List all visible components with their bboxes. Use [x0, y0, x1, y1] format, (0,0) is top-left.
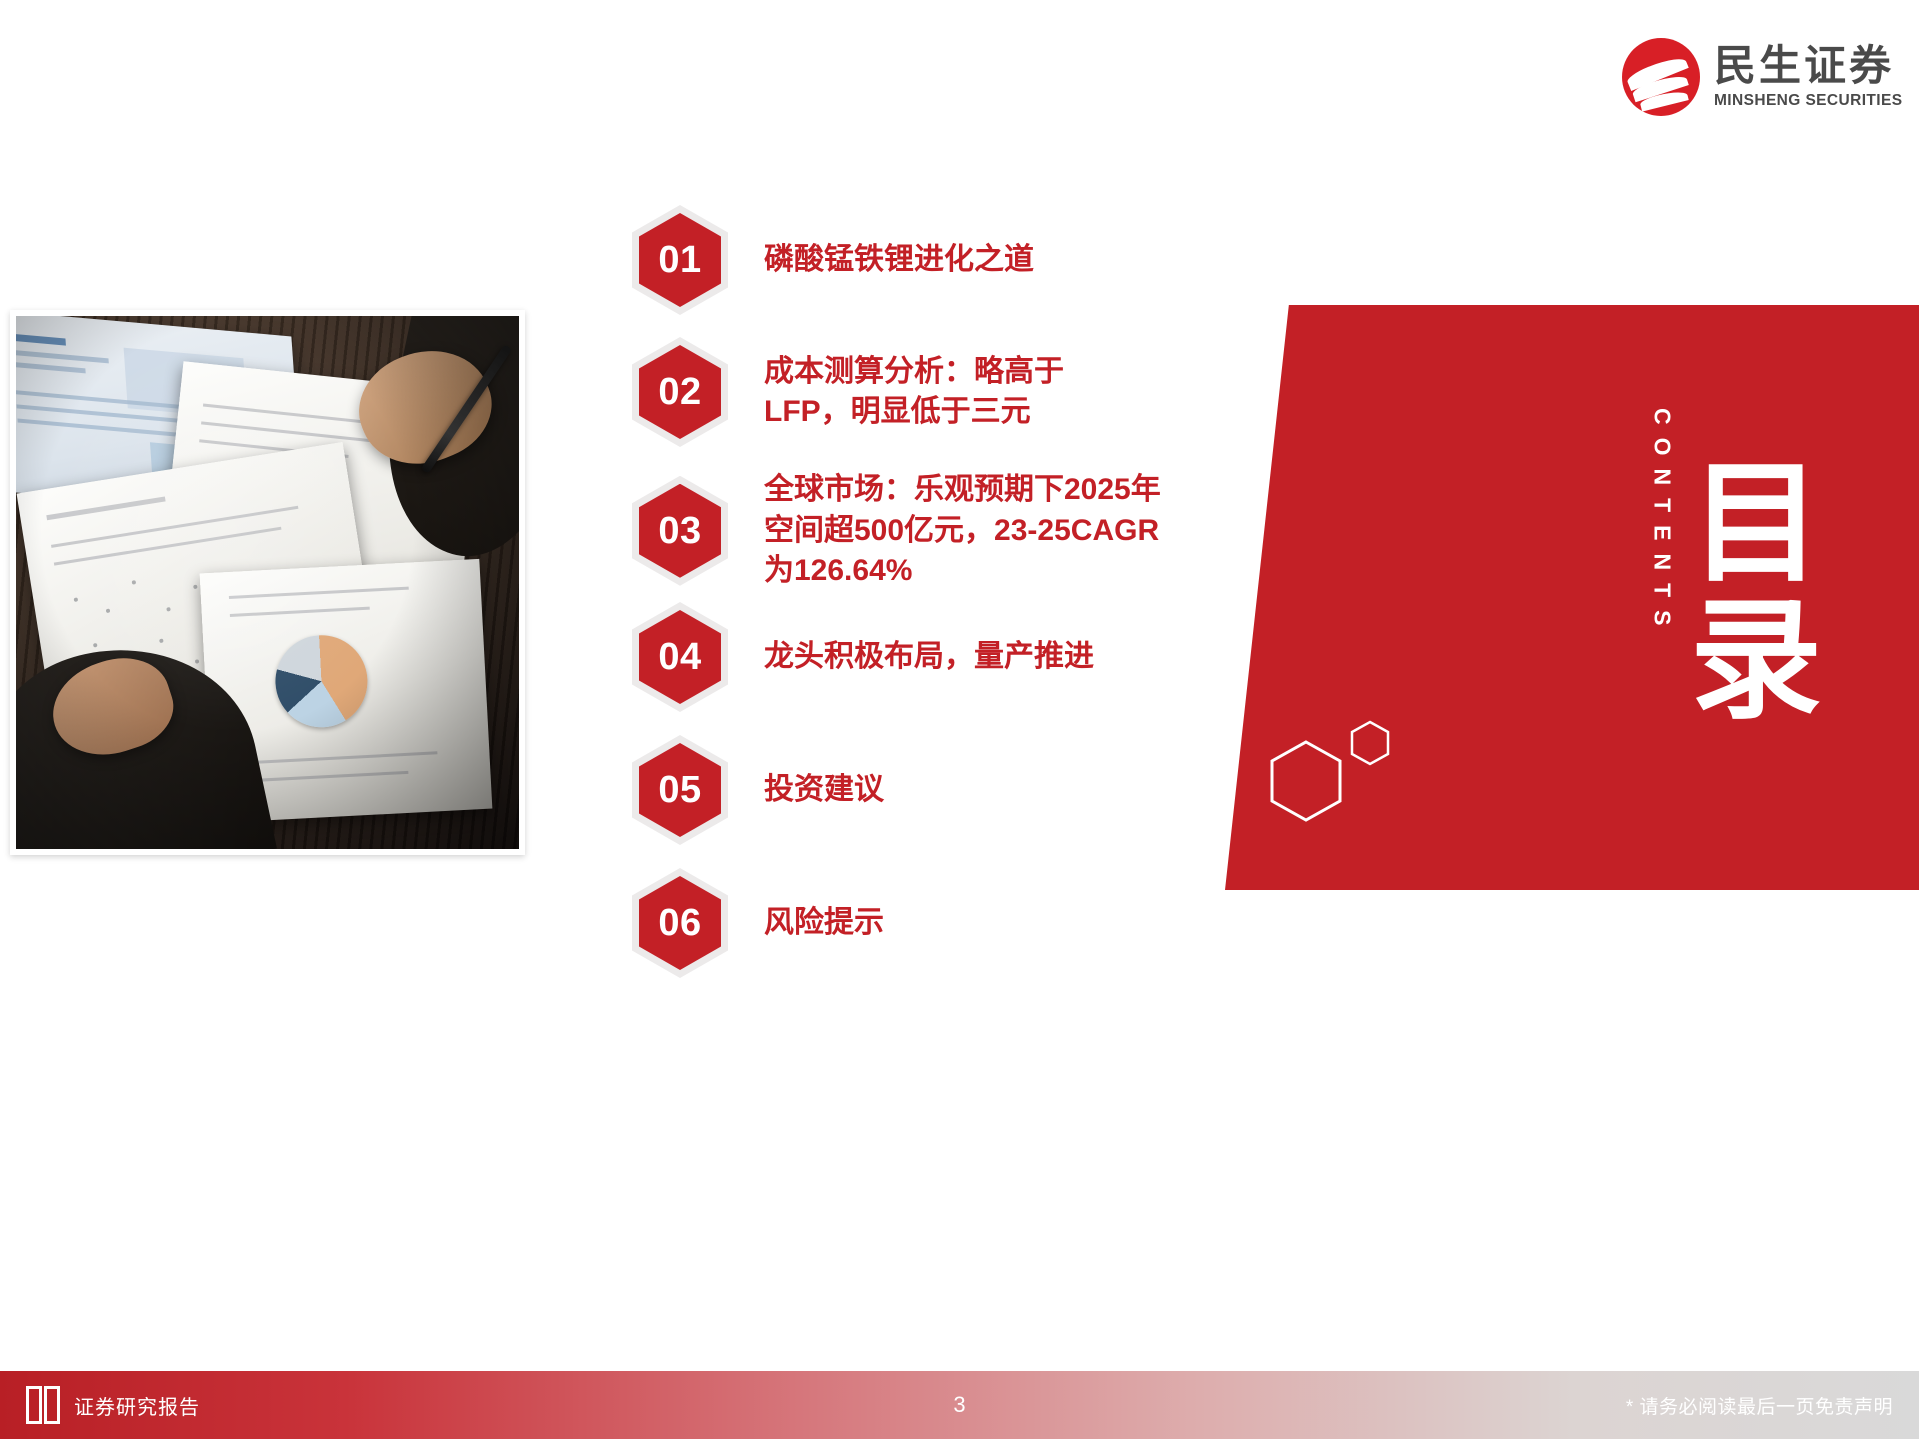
agenda-number: 05 — [658, 771, 701, 809]
cover-photo-desk-with-charts — [16, 316, 519, 849]
agenda-label: 投资建议 — [764, 770, 884, 811]
agenda-label: 磷酸锰铁锂进化之道 — [764, 240, 1034, 281]
agenda-label: 成本测算分析：略高于 LFP，明显低于三元 — [764, 352, 1064, 433]
agenda-item-05[interactable]: 05 投资建议 — [632, 735, 884, 845]
hexagon-badge-icon: 05 — [632, 735, 728, 845]
agenda-number: 01 — [658, 241, 701, 279]
agenda-number: 03 — [658, 512, 701, 550]
cover-photo-frame — [10, 310, 525, 855]
contents-label-en: CONTENTS — [1642, 408, 1682, 648]
agenda-number: 06 — [658, 904, 701, 942]
agenda-label: 龙头积极布局，量产推进 — [764, 637, 1094, 678]
hexagon-badge-icon: 02 — [632, 337, 728, 447]
logo-name-en: MINSHENG SECURITIES — [1714, 92, 1902, 110]
logo-text: 民生证券 MINSHENG SECURITIES — [1714, 44, 1902, 109]
hexagon-badge-icon: 01 — [632, 205, 728, 315]
agenda-number: 04 — [658, 638, 701, 676]
hexagon-badge-icon: 04 — [632, 602, 728, 712]
company-logo: 民生证券 MINSHENG SECURITIES — [1622, 32, 1902, 122]
agenda-item-03[interactable]: 03 全球市场：乐观预期下2025年 空间超500亿元，23-25CAGR 为1… — [632, 470, 1161, 592]
footer-disclaimer: * 请务必阅读最后一页免责声明 — [1626, 1392, 1893, 1419]
agenda-item-01[interactable]: 01 磷酸锰铁锂进化之道 — [632, 205, 1034, 315]
hexagon-outline-large-icon — [1270, 740, 1342, 822]
minsheng-logo-mark-icon — [1622, 38, 1700, 116]
agenda-number: 02 — [658, 373, 701, 411]
contents-label-cn: 目录 — [1690, 455, 1890, 730]
agenda-item-04[interactable]: 04 龙头积极布局，量产推进 — [632, 602, 1094, 712]
agenda-item-02[interactable]: 02 成本测算分析：略高于 LFP，明显低于三元 — [632, 337, 1064, 447]
footer-bar: 证券研究报告 3 * 请务必阅读最后一页免责声明 — [0, 1371, 1919, 1439]
hexagon-badge-icon: 03 — [632, 476, 728, 586]
logo-name-cn: 民生证券 — [1714, 44, 1902, 88]
contents-label-en-text: CONTENTS — [1651, 408, 1674, 639]
hexagon-badge-icon: 06 — [632, 868, 728, 978]
agenda-label: 全球市场：乐观预期下2025年 空间超500亿元，23-25CAGR 为126.… — [764, 470, 1161, 592]
agenda-item-06[interactable]: 06 风险提示 — [632, 868, 884, 978]
hexagon-outline-small-icon — [1350, 720, 1390, 766]
agenda-label: 风险提示 — [764, 903, 884, 944]
